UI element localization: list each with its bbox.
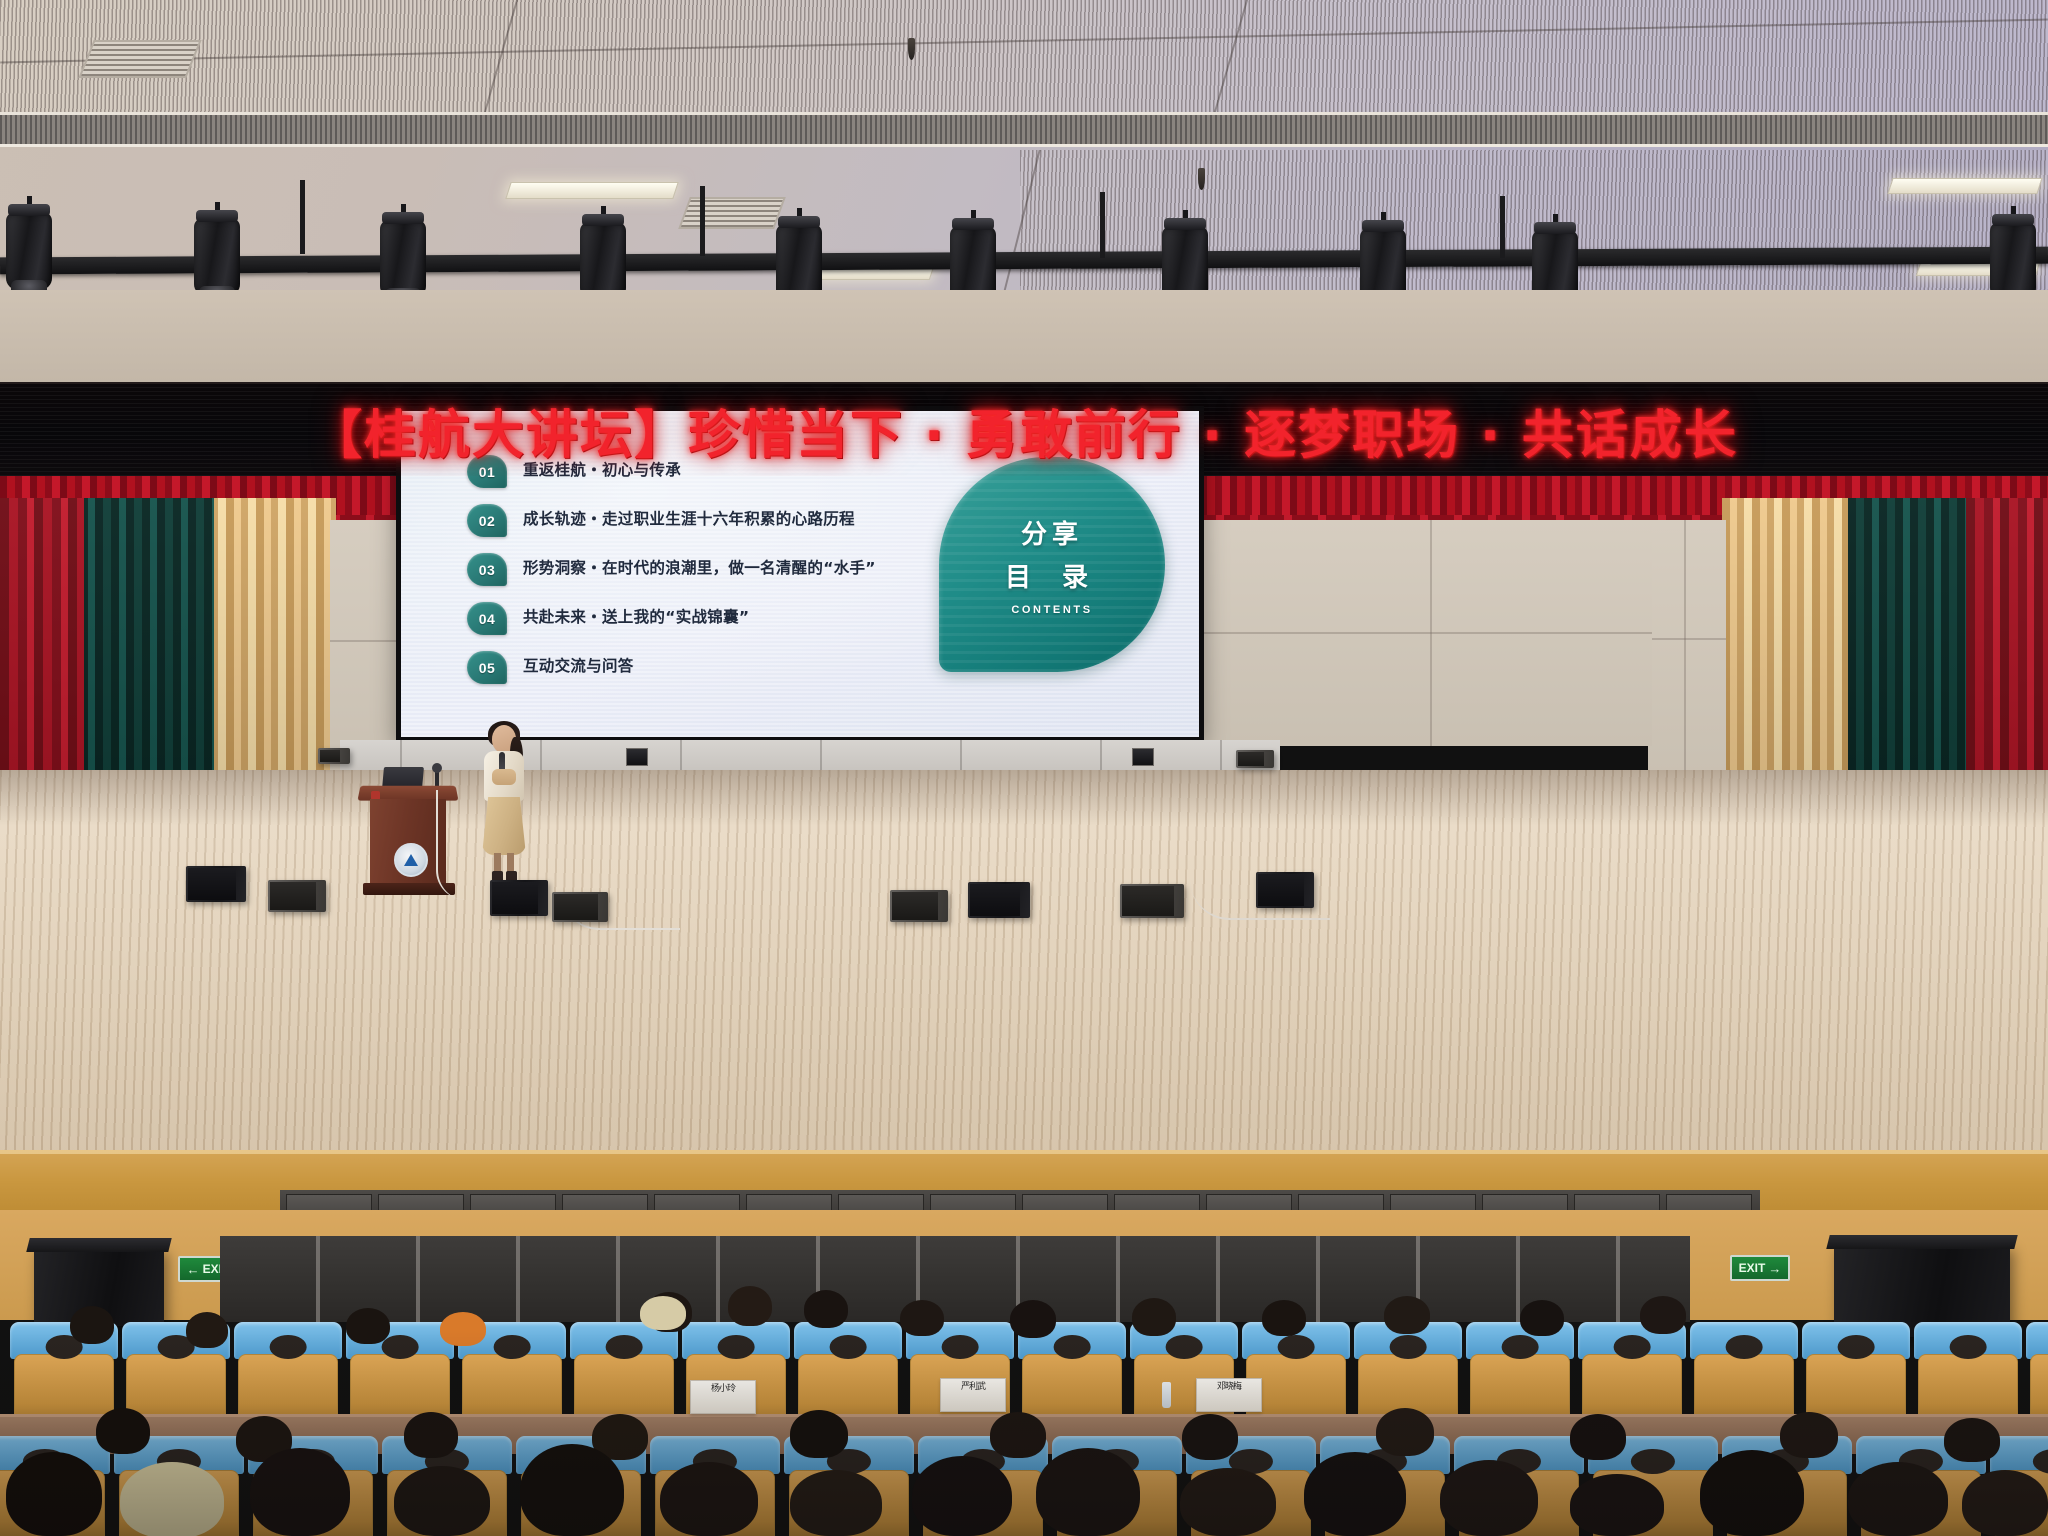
presenter (478, 725, 530, 885)
agenda-number: 02 (479, 513, 496, 529)
agenda-number: 05 (479, 660, 496, 676)
stage-monitor-5 (890, 890, 948, 922)
stage-monitor-2 (268, 880, 326, 912)
sprinkler-head-1 (908, 38, 915, 60)
audience-head-foreground (1962, 1470, 2048, 1536)
agenda-number: 04 (479, 611, 496, 627)
ceiling-vent-1 (78, 40, 201, 78)
agenda-number-badge: 04 (467, 602, 507, 635)
presenter-arms (492, 769, 516, 785)
ceiling-grille-band (0, 112, 2048, 147)
stage-side-wall-right (1648, 520, 1726, 778)
agenda-item: 05 互动交流与问答 (467, 651, 887, 684)
audience-head (70, 1306, 114, 1344)
audience-head-foreground (1304, 1452, 1406, 1536)
exit-arrow-left-icon: ← (187, 1262, 200, 1277)
stage-monitor-6 (968, 882, 1030, 918)
agenda-number-badge: 05 (467, 651, 507, 684)
wall-outlet-plate-right (1132, 748, 1154, 766)
audience-head (900, 1300, 944, 1336)
contents-subtitle: CONTENTS (1011, 604, 1092, 616)
audience-head (346, 1308, 390, 1344)
contents-title-line2: 目 录 (1005, 557, 1099, 594)
audience-head (1132, 1298, 1176, 1336)
truss-hanger-2 (700, 186, 705, 256)
stage-monitor-3 (490, 880, 548, 916)
sprinkler-head-2 (1198, 168, 1205, 190)
audience-head (186, 1312, 228, 1348)
agenda-text: 成长轨迹・走过职业生涯十六年积累的心路历程 (523, 504, 855, 531)
back-wall-right-of-screen (1204, 520, 1652, 746)
agenda-text: 形势洞察・在时代的浪潮里，做一名清醒的“水手” (523, 553, 876, 580)
audience-head-foreground (6, 1452, 102, 1536)
water-bottle (1162, 1382, 1171, 1408)
rear-partition-mullions (220, 1236, 1690, 1322)
audience-head-foreground (1180, 1468, 1276, 1536)
contents-teardrop-badge: 分享 目 录 CONTENTS (939, 457, 1165, 672)
audience-head-foreground (912, 1456, 1012, 1536)
placard-name: 杨小玲 (691, 1381, 755, 1394)
audience-head-foreground (660, 1462, 758, 1536)
exit-label-right: EXIT (1739, 1261, 1766, 1275)
stage-monitor-4 (552, 892, 608, 922)
wall-band (0, 290, 2048, 382)
audience-head-hat (640, 1296, 686, 1330)
exit-sign-right: EXIT → (1730, 1255, 1790, 1281)
agenda-item: 02 成长轨迹・走过职业生涯十六年积累的心路历程 (467, 504, 887, 537)
audience-head-foreground (790, 1470, 882, 1536)
audience-head-foreground (1440, 1460, 1538, 1536)
truss-hanger-3 (1100, 192, 1105, 258)
stage-monitor-9 (1236, 750, 1274, 768)
university-crest-icon (394, 843, 428, 877)
truss-hanger-1 (300, 180, 305, 254)
audience-head-foreground (1036, 1448, 1140, 1536)
wall-outlet-plate-left (626, 748, 648, 766)
audience-head (1640, 1296, 1686, 1334)
ceiling-vent-2 (678, 197, 786, 229)
podium-body (370, 799, 446, 885)
audience-head (1780, 1412, 1838, 1458)
stage-floor (0, 770, 2048, 1170)
audience-head-foreground-hat (120, 1462, 224, 1536)
audience-head (404, 1412, 458, 1458)
audience-head-foreground (520, 1444, 624, 1536)
name-placard: 杨小玲 (690, 1380, 756, 1414)
exit-arrow-right-icon: → (1768, 1261, 1781, 1276)
floor-cable-1 (436, 790, 466, 900)
audience-head-foreground (250, 1448, 350, 1536)
stage-monitor-7 (1120, 884, 1184, 918)
name-placard: 邓晓梅 (1196, 1378, 1262, 1412)
agenda-number-badge: 02 (467, 504, 507, 537)
audience-head (804, 1290, 848, 1328)
audience-head-hat (440, 1312, 486, 1346)
slide-agenda-list: 01 重返桂航・初心与传承 02 成长轨迹・走过职业生涯十六年积累的心路历程 0… (467, 455, 887, 700)
audience-head (790, 1410, 848, 1458)
auditorium-scene: 【桂航大讲坛】珍惜当下 · 勇敢前行 · 逐梦职场 · 共话成长 01 (0, 0, 2048, 1536)
audience-head (728, 1286, 772, 1326)
audience-head (96, 1408, 150, 1454)
agenda-number-badge: 03 (467, 553, 507, 586)
led-banner-text: 【桂航大讲坛】珍惜当下 · 勇敢前行 · 逐梦职场 · 共话成长 (310, 393, 1738, 468)
audience-head (1570, 1414, 1626, 1460)
name-placard: 严利武 (940, 1378, 1006, 1412)
agenda-item: 03 形势洞察・在时代的浪潮里，做一名清醒的“水手” (467, 553, 887, 586)
presenter-skirt (482, 797, 526, 855)
stage-monitor-1 (186, 866, 246, 902)
audience-head (1010, 1300, 1056, 1338)
placard-name: 邓晓梅 (1197, 1379, 1261, 1392)
audience-head-foreground (1700, 1450, 1804, 1536)
agenda-text: 互动交流与问答 (523, 651, 634, 678)
contents-title-line1: 分享 (1021, 514, 1083, 551)
ceiling-striplight-1 (505, 182, 679, 199)
audience-head (1376, 1408, 1434, 1456)
truss-hanger-4 (1500, 196, 1505, 258)
led-banner: 【桂航大讲坛】珍惜当下 · 勇敢前行 · 逐梦职场 · 共话成长 (0, 382, 2048, 478)
audience-head-foreground (1848, 1462, 1948, 1536)
audience-head (1944, 1418, 2000, 1462)
placard-name: 严利武 (941, 1379, 1005, 1392)
audience-head (1262, 1300, 1306, 1336)
audience-head (1384, 1296, 1430, 1334)
agenda-item: 04 共赴未来・送上我的“实战锦囊” (467, 602, 887, 635)
ceiling-striplight-2 (1887, 178, 2042, 194)
agenda-text: 共赴未来・送上我的“实战锦囊” (523, 602, 749, 629)
stage-monitor-8 (1256, 872, 1314, 908)
audience-head (990, 1412, 1046, 1458)
stage-monitor-10 (318, 748, 350, 764)
audience-head (1182, 1414, 1238, 1460)
agenda-number: 03 (479, 562, 496, 578)
audience-head-foreground (1570, 1474, 1664, 1536)
stage-floor-shadow (0, 770, 2048, 826)
audience-head-foreground (394, 1466, 490, 1536)
audience-head (1520, 1300, 1564, 1336)
